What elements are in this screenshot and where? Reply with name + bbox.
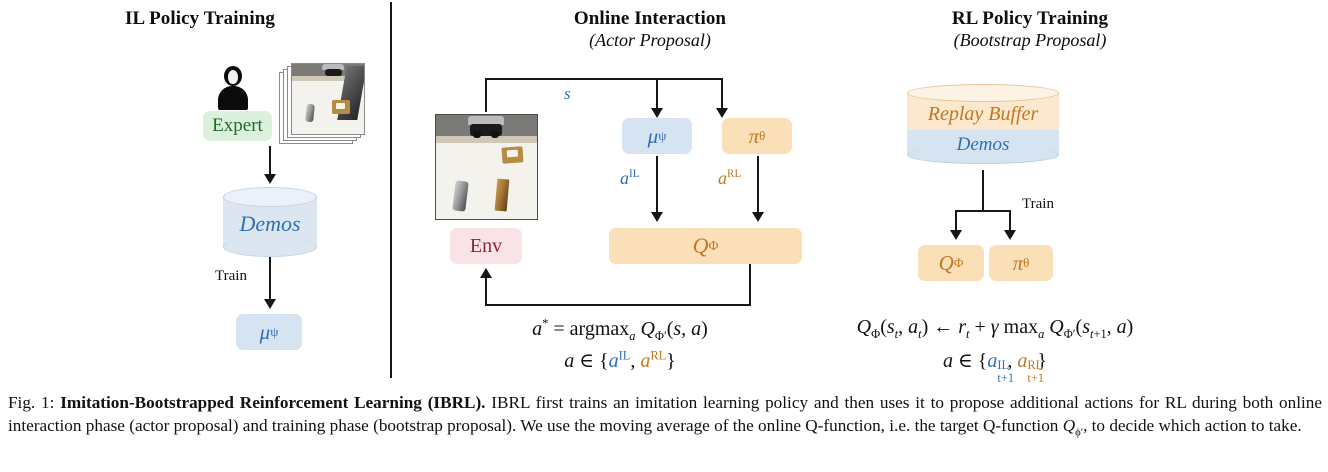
rl-train-left-drop — [955, 210, 957, 232]
env-hook-object — [501, 146, 523, 163]
rl-policy-sub: θ — [1023, 255, 1029, 271]
arrow-rl-action-line — [757, 156, 759, 214]
feedback-arrow-head — [480, 268, 492, 278]
online-il-policy-box: μψ — [622, 118, 692, 154]
replay-buffer-cylinder: Replay Buffer Demos — [907, 84, 1059, 168]
online-equation-line2: a ∈ {aIL, aRL} — [460, 348, 780, 373]
online-q-sub: Φ — [708, 238, 718, 254]
state-bus-right-head — [716, 108, 728, 118]
arrow-il-action-head — [651, 212, 663, 222]
feedback-bottom — [485, 304, 751, 306]
rl-policy-box: πθ — [989, 245, 1053, 281]
demos-label: Demos — [223, 211, 317, 237]
state-bus-horizontal — [485, 78, 723, 80]
il-action-a: a — [620, 168, 629, 188]
rl-action-label: aRL — [718, 168, 741, 189]
panel-subtitle-rl: (Bootstrap Proposal) — [880, 30, 1180, 51]
arrow-rl-action-head — [752, 212, 764, 222]
il-policy-sub: ψ — [270, 324, 278, 340]
caption-bold-title: Imitation-Bootstrapped Reinforcement Lea… — [60, 393, 485, 412]
rl-train-left-head — [950, 230, 962, 240]
il-action-sup: IL — [629, 168, 640, 180]
rl-policy-label: π — [1013, 251, 1024, 276]
train-label-rl: Train — [1022, 196, 1054, 213]
rl-train-right-head — [1004, 230, 1016, 240]
expert-label-box: Expert — [203, 111, 272, 141]
rl-demos-label: Demos — [907, 134, 1059, 156]
env-box: Env — [450, 228, 522, 264]
arrow-train-il-head — [264, 299, 276, 309]
il-policy-box: μψ — [236, 314, 302, 350]
rl-q-sub: Φ — [954, 255, 964, 271]
demos-cylinder: Demos — [223, 187, 317, 257]
replay-buffer-label: Replay Buffer — [907, 103, 1059, 126]
panel-title-rl: RL Policy Training — [880, 8, 1180, 30]
train-label-il: Train — [215, 268, 247, 285]
panel-subtitle-online: (Actor Proposal) — [500, 30, 800, 51]
expert-label: Expert — [212, 115, 263, 137]
expert-person-icon — [216, 66, 250, 110]
state-label: s — [564, 84, 571, 104]
online-il-policy-sub: ψ — [658, 128, 666, 144]
il-action-label: aIL — [620, 168, 640, 189]
online-rl-policy-sub: θ — [759, 128, 765, 144]
rl-equation-line2: a ∈ {aILt+1 , aRLt+1 } — [820, 348, 1170, 373]
rl-train-stem — [982, 170, 984, 212]
state-bus-mid-drop — [656, 78, 658, 110]
feedback-right-drop — [749, 264, 751, 306]
arrow-expert-to-demos-line — [269, 146, 271, 176]
env-label: Env — [470, 235, 502, 258]
online-rl-policy-label: π — [749, 124, 760, 149]
arrow-il-action-line — [656, 156, 658, 214]
panel-title-online: Online Interaction — [500, 8, 800, 30]
rl-q-box: QΦ — [918, 245, 984, 281]
online-rl-policy-box: πθ — [722, 118, 792, 154]
state-bus-mid-head — [651, 108, 663, 118]
arrow-expert-to-demos-head — [264, 174, 276, 184]
arrow-train-il-line — [269, 257, 271, 301]
panel-divider — [390, 2, 392, 378]
caption-prefix: Fig. 1: — [8, 393, 60, 412]
panel-title-il: IL Policy Training — [45, 8, 355, 30]
figure-caption: Fig. 1: Imitation-Bootstrapped Reinforce… — [8, 392, 1322, 440]
env-scene-image — [435, 114, 538, 220]
figure-canvas: IL Policy Training Expert — [0, 0, 1328, 388]
demo-image-stack — [279, 63, 365, 145]
rl-train-fork-bar — [955, 210, 1011, 212]
online-equation-line1: a* = argmaxa QΦ′(s, a) — [460, 316, 780, 344]
feedback-left-rise — [485, 276, 487, 306]
rl-action-a: a — [718, 168, 727, 188]
rl-q-label: Q — [939, 251, 954, 276]
online-q-label: Q — [693, 233, 709, 259]
hook-object — [332, 100, 350, 114]
rl-train-right-drop — [1009, 210, 1011, 232]
state-bus-left-drop — [485, 78, 487, 112]
state-bus-right-drop — [721, 78, 723, 110]
rl-action-sup: RL — [727, 168, 741, 180]
online-q-box: QΦ — [609, 228, 802, 264]
online-il-policy-label: μ — [648, 124, 659, 149]
il-policy-label: μ — [260, 320, 271, 345]
demo-scene-thumbnail — [291, 63, 365, 135]
rl-equation-line1: QΦ(st, at) ← rt + γ maxa QΦ′(st+1, a) — [820, 316, 1170, 342]
